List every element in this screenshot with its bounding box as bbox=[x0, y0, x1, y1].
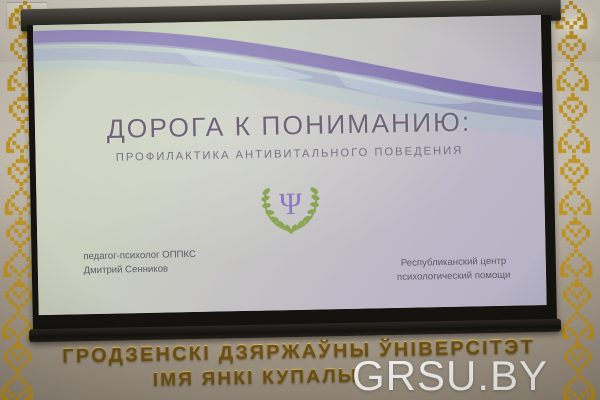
psi-symbol: Ψ bbox=[279, 185, 303, 220]
projected-slide: ДОРОГА К ПОНИМАНИЮ: ПРОФИЛАКТИКА АНТИВИТ… bbox=[33, 15, 547, 315]
photo-scene: ДОРОГА К ПОНИМАНИЮ: ПРОФИЛАКТИКА АНТИВИТ… bbox=[0, 0, 600, 400]
psi-laurel-wreath-icon: Ψ bbox=[257, 177, 324, 234]
projector-screen: ДОРОГА К ПОНИМАНИЮ: ПРОФИЛАКТИКА АНТИВИТ… bbox=[21, 0, 568, 353]
wall-sign-line-2: ІМЯ ЯНКІ КУПАЛЫ bbox=[153, 365, 359, 391]
slide-credit-right: Республиканский центр психологический по… bbox=[397, 255, 511, 285]
slide-credit-left-line1: педагог-психолог ОППКС bbox=[83, 248, 196, 264]
slide-credit-left-line2: Дмитрий Сенников bbox=[83, 262, 196, 278]
watermark-grsu: GRSU.BY bbox=[352, 352, 548, 400]
slide-credit-left: педагог-психолог ОППКС Дмитрий Сенников bbox=[83, 248, 196, 278]
slide-heading-block: ДОРОГА К ПОНИМАНИЮ: ПРОФИЛАКТИКА АНТИВИТ… bbox=[35, 107, 544, 165]
slide-credit-right-line2: психологический помощи bbox=[397, 269, 511, 285]
